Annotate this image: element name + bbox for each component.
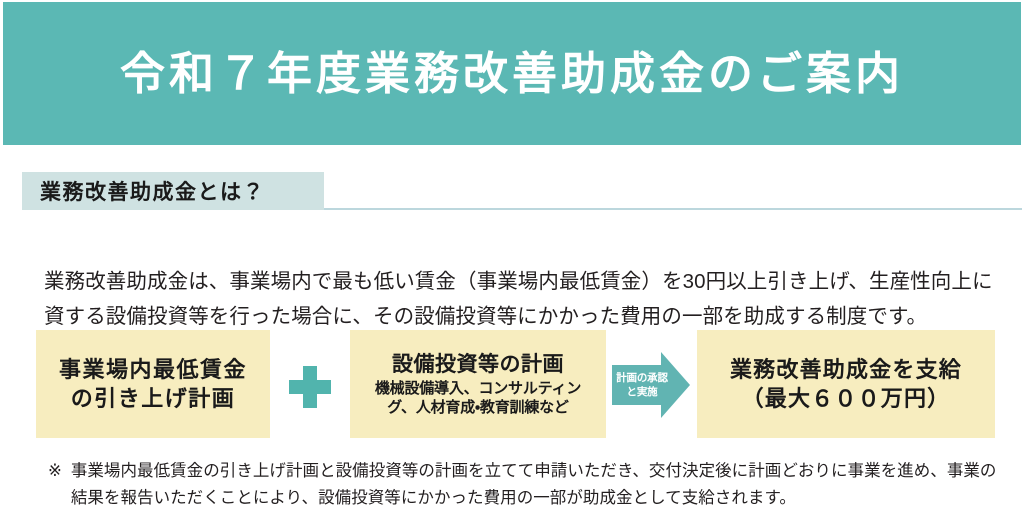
section-heading-label: 業務改善助成金とは？ <box>22 176 265 206</box>
subsidy-flow-diagram: 事業場内最低賃金 の引き上げ計画 設備投資等の計画 機械設備導入、コンサルティン… <box>0 330 1024 440</box>
flow-box-2-subtitle-line2: グ、人材育成・教育訓練など <box>387 399 568 416</box>
page-header-banner: 令和７年度業務改善助成金のご案内 <box>3 2 1021 145</box>
section-heading-badge: 業務改善助成金とは？ <box>22 172 324 210</box>
right-arrow-icon: 計画の承認 と実施 <box>612 352 690 418</box>
footnote-text: 事業場内最低賃金の引き上げ計画と設備投資等の計画を立てて申請いただき、交付決定後… <box>71 458 1000 511</box>
arrow-label-line1: 計画の承認 <box>616 372 668 384</box>
flow-box-3-title: 業務改善助成金を支給 （最大６００万円） <box>730 355 962 414</box>
page-title: 令和７年度業務改善助成金のご案内 <box>120 49 904 99</box>
plus-icon <box>289 366 331 408</box>
flow-box-2-subtitle-line1: 機械設備導入、コンサルティン <box>375 380 581 397</box>
flow-box-subsidy-payment: 業務改善助成金を支給 （最大６００万円） <box>697 330 995 438</box>
footnote: ※ 事業場内最低賃金の引き上げ計画と設備投資等の計画を立てて申請いただき、交付決… <box>48 458 1000 511</box>
flow-box-3-title-line2: （最大６００万円） <box>742 386 951 411</box>
arrow-label: 計画の承認 と実施 <box>612 352 672 418</box>
flow-box-2-subtitle: 機械設備導入、コンサルティン グ、人材育成・教育訓練など <box>371 380 585 418</box>
footnote-mark: ※ <box>48 458 71 485</box>
flow-box-3-title-line1: 業務改善助成金を支給 <box>730 357 962 382</box>
flow-box-1-title: 事業場内最低賃金 の引き上げ計画 <box>59 355 247 414</box>
flow-box-capital-investment-plan: 設備投資等の計画 機械設備導入、コンサルティン グ、人材育成・教育訓練など <box>350 330 606 438</box>
flow-box-1-title-line1: 事業場内最低賃金 <box>59 357 247 382</box>
flow-box-2-title: 設備投資等の計画 <box>392 351 564 379</box>
flow-box-1-title-line2: の引き上げ計画 <box>71 386 236 411</box>
section-heading-rule <box>324 208 1022 210</box>
section-description-paragraph: 業務改善助成金は、事業場内で最も低い賃金（事業場内最低賃金）を30円以上引き上げ… <box>44 264 994 335</box>
flow-box-wage-increase-plan: 事業場内最低賃金 の引き上げ計画 <box>36 330 270 438</box>
arrow-label-line2: と実施 <box>627 386 658 398</box>
